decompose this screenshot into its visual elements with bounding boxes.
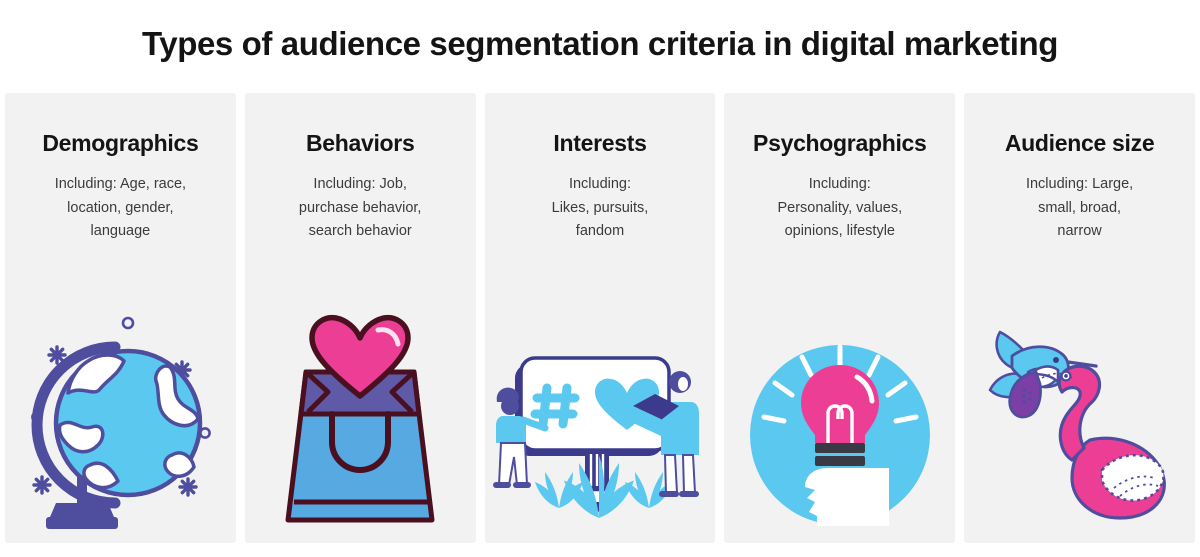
card-description: Including: Personality, values, opinions… <box>761 173 918 243</box>
card-title: Demographics <box>36 131 204 156</box>
shopping-bag-with-heart-illustration <box>245 285 476 535</box>
criteria-card-interests[interactable]: Interests Including: Likes, pursuits, fa… <box>485 93 716 543</box>
page-title: Types of audience segmentation criteria … <box>0 0 1200 62</box>
infographic-root: Types of audience segmentation criteria … <box>0 0 1200 557</box>
criteria-card-list: Demographics Including: Age, race, locat… <box>5 93 1195 543</box>
criteria-card-audience-size[interactable]: Audience size Including: Large, small, b… <box>964 93 1195 543</box>
globe-on-stand-illustration <box>5 285 236 535</box>
hummingbird-and-flamingo-illustration <box>964 285 1195 535</box>
card-description: Including: Large, small, broad, narrow <box>1010 173 1149 243</box>
lightbulb-over-open-head-illustration <box>724 285 955 535</box>
card-title: Interests <box>547 131 652 156</box>
card-title: Audience size <box>999 131 1161 156</box>
criteria-card-psychographics[interactable]: Psychographics Including: Personality, v… <box>724 93 955 543</box>
social-post-card-with-people-illustration <box>485 285 716 535</box>
card-description: Including: Age, race, location, gender, … <box>39 173 202 243</box>
criteria-card-behaviors[interactable]: Behaviors Including: Job, purchase behav… <box>245 93 476 543</box>
card-description: Including: Likes, pursuits, fandom <box>536 173 665 243</box>
card-description: Including: Job, purchase behavior, searc… <box>283 173 438 243</box>
card-title: Psychographics <box>747 131 932 156</box>
criteria-card-demographics[interactable]: Demographics Including: Age, race, locat… <box>5 93 236 543</box>
flamingo <box>1010 366 1165 518</box>
card-title: Behaviors <box>300 131 421 156</box>
